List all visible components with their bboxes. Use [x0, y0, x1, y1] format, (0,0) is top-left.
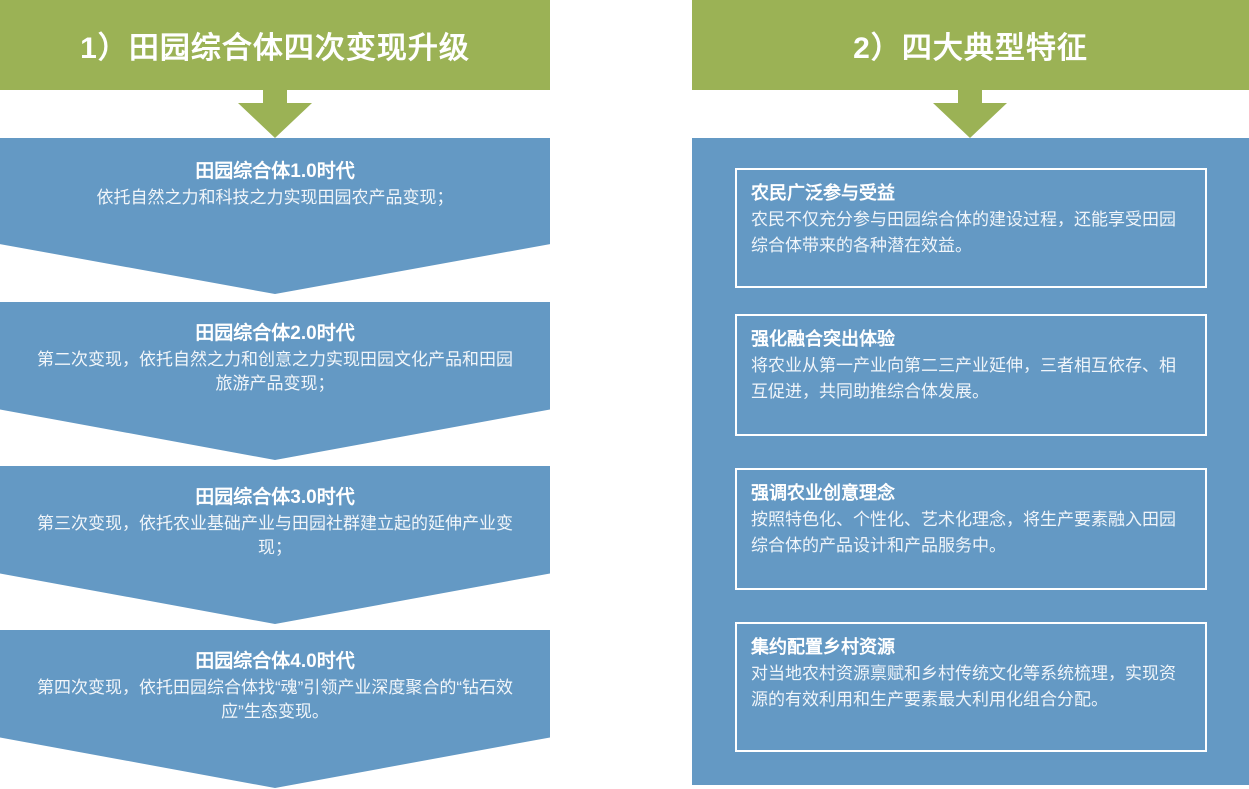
- step-title: 田园综合体1.0时代: [0, 160, 550, 184]
- step-desc: 第四次变现，依托田园综合体找“魂”引领产业深度聚合的“钻石效应”生态变现。: [0, 676, 550, 725]
- left-section-header: 1）田园综合体四次变现升级: [0, 0, 550, 90]
- right-section-title: 2）四大典型特征: [853, 23, 1088, 67]
- left-section-title: 1）田园综合体四次变现升级: [80, 23, 470, 67]
- left-column: 1）田园综合体四次变现升级 田园综合体1.0时代 依托自然之力和科技之力实现田园…: [0, 0, 550, 789]
- feature-title: 集约配置乡村资源: [751, 636, 1191, 659]
- feature-box-3: 强调农业创意理念 按照特色化、个性化、艺术化理念，将生产要素融入田园综合体的产品…: [735, 468, 1207, 590]
- feature-desc: 农民不仅充分参与田园综合体的建设过程，还能享受田园综合体带来的各种潜在效益。: [751, 207, 1191, 258]
- down-arrow-icon: [238, 90, 312, 138]
- feature-desc: 将农业从第一产业向第二三产业延伸，三者相互依存、相互促进，共同助推综合体发展。: [751, 353, 1191, 404]
- feature-title: 强化融合突出体验: [751, 328, 1191, 351]
- step-block-3: 田园综合体3.0时代 第三次变现，依托农业基础产业与田园社群建立起的延伸产业变现…: [0, 466, 550, 624]
- step-title: 田园综合体2.0时代: [0, 322, 550, 346]
- step-desc: 依托自然之力和科技之力实现田园农产品变现；: [0, 186, 550, 211]
- step-title: 田园综合体4.0时代: [0, 650, 550, 674]
- step-block-1: 田园综合体1.0时代 依托自然之力和科技之力实现田园农产品变现；: [0, 138, 550, 294]
- feature-desc: 对当地农村资源禀赋和乡村传统文化等系统梳理，实现资源的有效利用和生产要素最大利用…: [751, 661, 1191, 712]
- feature-title: 农民广泛参与受益: [751, 182, 1191, 205]
- feature-box-1: 农民广泛参与受益 农民不仅充分参与田园综合体的建设过程，还能享受田园综合体带来的…: [735, 168, 1207, 288]
- feature-box-2: 强化融合突出体验 将农业从第一产业向第二三产业延伸，三者相互依存、相互促进，共同…: [735, 314, 1207, 436]
- step-title: 田园综合体3.0时代: [0, 486, 550, 510]
- features-panel: 农民广泛参与受益 农民不仅充分参与田园综合体的建设过程，还能享受田园综合体带来的…: [692, 138, 1249, 785]
- infographic-root: 1）田园综合体四次变现升级 田园综合体1.0时代 依托自然之力和科技之力实现田园…: [0, 0, 1249, 789]
- right-section-header: 2）四大典型特征: [692, 0, 1249, 90]
- step-desc: 第二次变现，依托自然之力和创意之力实现田园文化产品和田园旅游产品变现；: [0, 348, 550, 397]
- step-block-2: 田园综合体2.0时代 第二次变现，依托自然之力和创意之力实现田园文化产品和田园旅…: [0, 302, 550, 460]
- right-column: 2）四大典型特征 农民广泛参与受益 农民不仅充分参与田园综合体的建设过程，还能享…: [692, 0, 1249, 789]
- feature-box-4: 集约配置乡村资源 对当地农村资源禀赋和乡村传统文化等系统梳理，实现资源的有效利用…: [735, 622, 1207, 752]
- feature-title: 强调农业创意理念: [751, 482, 1191, 505]
- down-arrow-icon: [933, 90, 1007, 138]
- step-desc: 第三次变现，依托农业基础产业与田园社群建立起的延伸产业变现；: [0, 512, 550, 561]
- step-block-4: 田园综合体4.0时代 第四次变现，依托田园综合体找“魂”引领产业深度聚合的“钻石…: [0, 630, 550, 788]
- feature-desc: 按照特色化、个性化、艺术化理念，将生产要素融入田园综合体的产品设计和产品服务中。: [751, 507, 1191, 558]
